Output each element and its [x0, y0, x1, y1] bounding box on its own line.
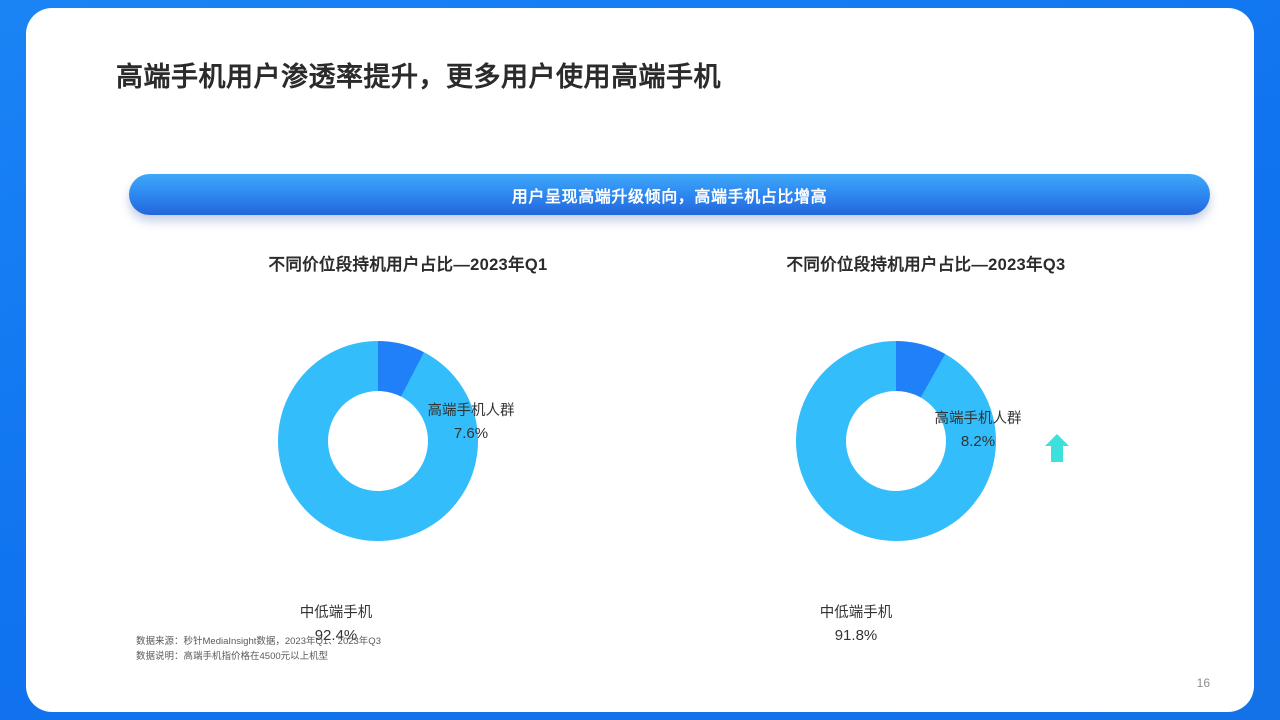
- page-number: 16: [1197, 676, 1210, 690]
- donut-chart-q3: 高端手机人群 8.2% 中低端手机 91.8%: [666, 341, 1186, 561]
- chart-panel-q1: 不同价位段持机用户占比—2023年Q1 高端手机人群 7.6% 中低端手机 92…: [148, 251, 668, 581]
- callout-low-tier-q3: 中低端手机 91.8%: [776, 603, 936, 647]
- footnotes: 数据来源：秒针MediaInsight数据，2023年Q1、2023年Q3 数据…: [136, 635, 381, 664]
- callout-high-tier-q1: 高端手机人群 7.6%: [391, 401, 551, 445]
- chart-title-q3: 不同价位段持机用户占比—2023年Q3: [666, 251, 1186, 275]
- donut-chart-q1: 高端手机人群 7.6% 中低端手机 92.4%: [148, 341, 668, 561]
- callout-high-tier-q3-value: 8.2%: [898, 431, 1058, 454]
- chart-panel-q3: 不同价位段持机用户占比—2023年Q3 高端手机人群 8.2% 中低端手机 91…: [666, 251, 1186, 581]
- arrow-up-icon: [1044, 433, 1070, 463]
- footnote-source: 数据来源：秒针MediaInsight数据，2023年Q1、2023年Q3: [136, 635, 381, 650]
- callout-high-tier-q3-name: 高端手机人群: [898, 409, 1058, 431]
- callout-low-tier-q3-value: 91.8%: [776, 625, 936, 648]
- callout-low-tier-q1-name: 中低端手机: [256, 603, 416, 625]
- slide-backdrop: 高端手机用户渗透率提升，更多用户使用高端手机 用户呈现高端升级倾向，高端手机占比…: [0, 0, 1280, 720]
- section-banner-label: 用户呈现高端升级倾向，高端手机占比增高: [512, 183, 827, 207]
- callout-low-tier-q3-name: 中低端手机: [776, 603, 936, 625]
- chart-title-q1: 不同价位段持机用户占比—2023年Q1: [148, 251, 668, 275]
- section-banner-pill: 用户呈现高端升级倾向，高端手机占比增高: [129, 174, 1210, 215]
- footnote-note: 数据说明：高端手机指价格在4500元以上机型: [136, 650, 381, 665]
- slide-card: 高端手机用户渗透率提升，更多用户使用高端手机 用户呈现高端升级倾向，高端手机占比…: [26, 8, 1254, 712]
- callout-high-tier-q1-value: 7.6%: [391, 423, 551, 446]
- callout-high-tier-q3: 高端手机人群 8.2%: [898, 409, 1058, 453]
- page-title: 高端手机用户渗透率提升，更多用户使用高端手机: [116, 55, 721, 94]
- callout-high-tier-q1-name: 高端手机人群: [391, 401, 551, 423]
- section-banner: 用户呈现高端升级倾向，高端手机占比增高: [129, 174, 1210, 215]
